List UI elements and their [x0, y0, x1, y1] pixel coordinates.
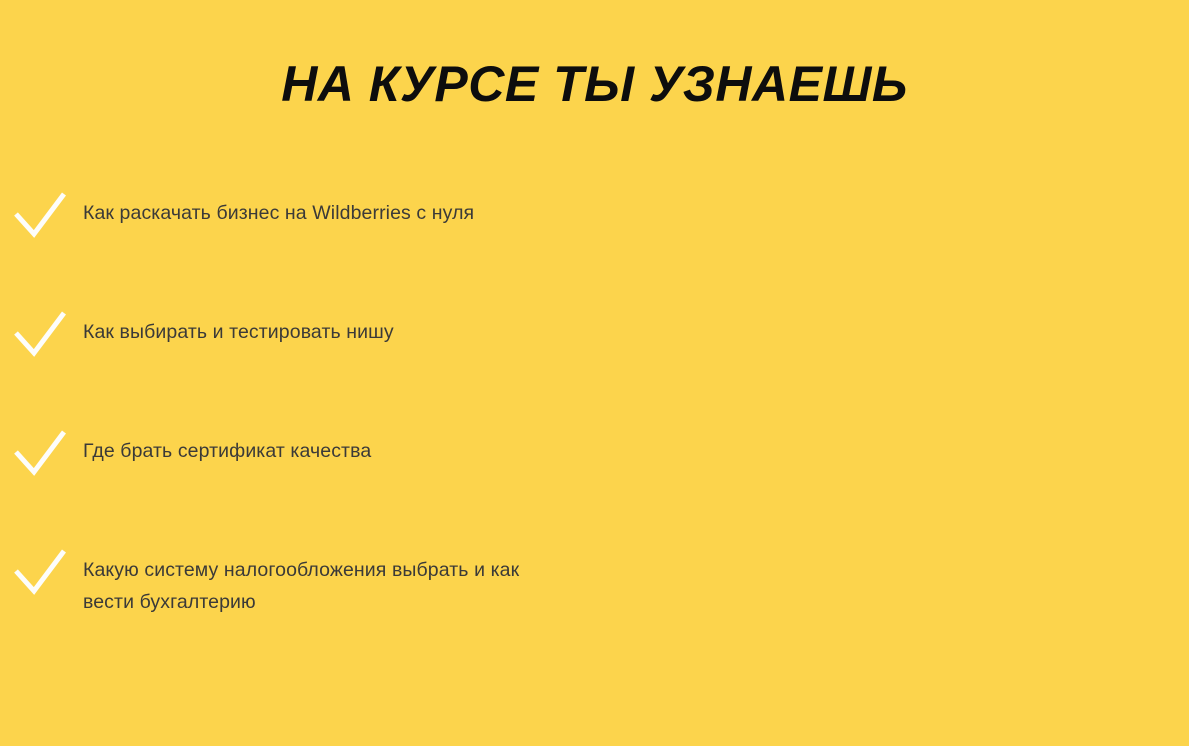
feature-text: Какую систему налогообложения выбрать и … — [66, 545, 553, 618]
features-column-right: Как не потеряться среди конкурентов и вы… — [575, 188, 1189, 664]
feature-text: Где брать сертификат качества — [66, 426, 553, 467]
feature-item: Где брать сертификат качества — [14, 426, 575, 545]
feature-text: Как раскачать бизнес на Wildberries с ну… — [66, 188, 553, 229]
page-title: НА КУРСЕ ТЫ УЗНАЕШЬ — [281, 56, 908, 112]
page-title-container: НА КУРСЕ ТЫ УЗНАЕШЬ — [0, 56, 1189, 112]
check-icon — [14, 549, 66, 597]
feature-item: Как раскачать бизнес на Wildberries с ну… — [14, 188, 575, 307]
check-icon — [14, 311, 66, 359]
features-column-left: Как раскачать бизнес на Wildberries с ну… — [0, 188, 575, 664]
check-icon — [14, 430, 66, 478]
slide-root: НА КУРСЕ ТЫ УЗНАЕШЬ Как раскачать бизнес… — [0, 0, 1189, 674]
features-columns: Как раскачать бизнес на Wildberries с ну… — [0, 188, 1189, 664]
check-icon — [14, 192, 66, 240]
feature-item: Какую систему налогообложения выбрать и … — [14, 545, 575, 664]
feature-text: Как выбирать и тестировать нишу — [66, 307, 553, 348]
feature-item: Как выбирать и тестировать нишу — [14, 307, 575, 426]
